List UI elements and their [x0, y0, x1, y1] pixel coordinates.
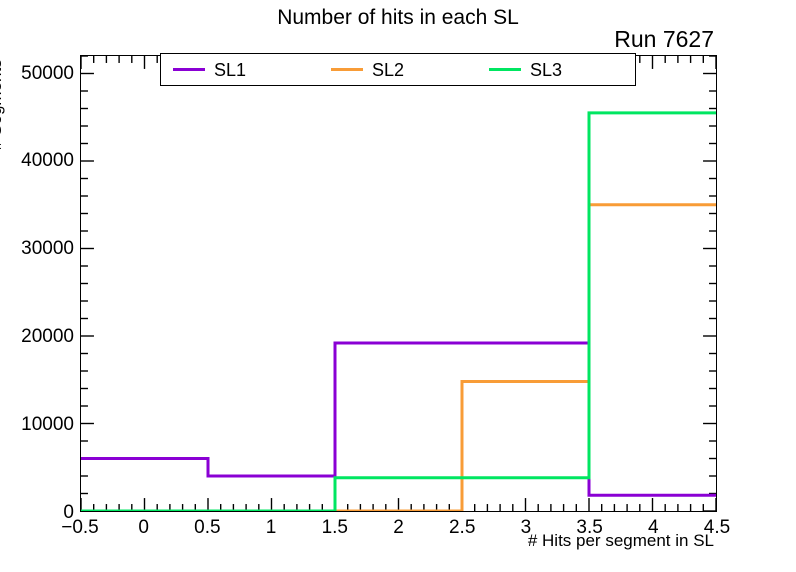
- data-series-group: [81, 113, 716, 511]
- x-tick-label: 0: [109, 518, 179, 537]
- x-tick-label: 2: [364, 518, 434, 537]
- legend-entry-sl1[interactable]: SL1: [161, 61, 319, 79]
- series-line-sl1: [81, 343, 716, 495]
- y-tick-label: 10000: [0, 415, 74, 434]
- x-tick-label: −0.5: [45, 518, 115, 537]
- legend-label: SL1: [214, 61, 246, 79]
- legend-swatch-icon: [331, 68, 363, 71]
- legend-swatch-icon: [173, 68, 205, 71]
- y-tick-label: 30000: [0, 239, 74, 258]
- legend: SL1SL2SL3: [160, 53, 636, 86]
- y-tick-label: 20000: [0, 327, 74, 346]
- legend-entry-sl3[interactable]: SL3: [477, 61, 635, 79]
- axis-ticks: [81, 56, 716, 511]
- x-tick-label: 4.5: [682, 518, 752, 537]
- run-label: Run 7627: [614, 26, 714, 52]
- plot-area: [81, 56, 716, 511]
- y-tick-label: 50000: [0, 64, 74, 83]
- y-tick-label: 40000: [0, 151, 74, 170]
- series-line-sl2: [81, 205, 716, 511]
- series-line-sl3: [81, 113, 716, 511]
- x-tick-label: 4: [618, 518, 688, 537]
- x-tick-label: 2.5: [427, 518, 497, 537]
- legend-swatch-icon: [489, 68, 521, 71]
- x-tick-label: 1: [236, 518, 306, 537]
- x-tick-label: 0.5: [172, 518, 242, 537]
- x-tick-label: 3: [491, 518, 561, 537]
- x-tick-label: 3.5: [555, 518, 625, 537]
- legend-label: SL2: [372, 61, 404, 79]
- legend-label: SL3: [530, 61, 562, 79]
- legend-entry-sl2[interactable]: SL2: [319, 61, 477, 79]
- x-tick-label: 1.5: [300, 518, 370, 537]
- chart-canvas: Number of hits in each SL Run 7627 # Seg…: [0, 0, 796, 572]
- plot-frame: [80, 55, 717, 512]
